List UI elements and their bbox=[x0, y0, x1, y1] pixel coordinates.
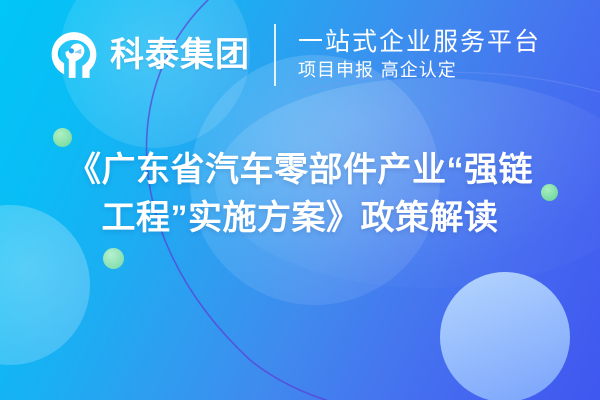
tagline-main: 一站式企业服务平台 bbox=[298, 28, 541, 56]
green-dot-upper-left bbox=[53, 128, 72, 147]
brand-name: 科泰集团 bbox=[110, 38, 250, 72]
green-dot-lower-left bbox=[103, 248, 124, 269]
header-divider bbox=[274, 24, 276, 86]
tagline-block: 一站式企业服务平台 项目申报 高企认定 bbox=[298, 28, 541, 82]
page-title: 《广东省汽车零部件产业“强链 工程”实施方案》政策解读 bbox=[0, 146, 600, 243]
light-blue-circle-bottom-right bbox=[440, 272, 570, 400]
brand-header: 科泰集团 一站式企业服务平台 项目申报 高企认定 bbox=[48, 22, 541, 88]
page-title-line-1: 《广东省汽车零部件产业“强链 bbox=[34, 146, 566, 194]
policy-interpretation-banner: 科泰集团 一站式企业服务平台 项目申报 高企认定 《广东省汽车零部件产业“强链 … bbox=[0, 0, 600, 400]
page-title-line-2: 工程”实施方案》政策解读 bbox=[34, 194, 566, 242]
tagline-sub: 项目申报 高企认定 bbox=[298, 59, 541, 82]
ketai-circular-r-logo-icon bbox=[48, 29, 100, 81]
